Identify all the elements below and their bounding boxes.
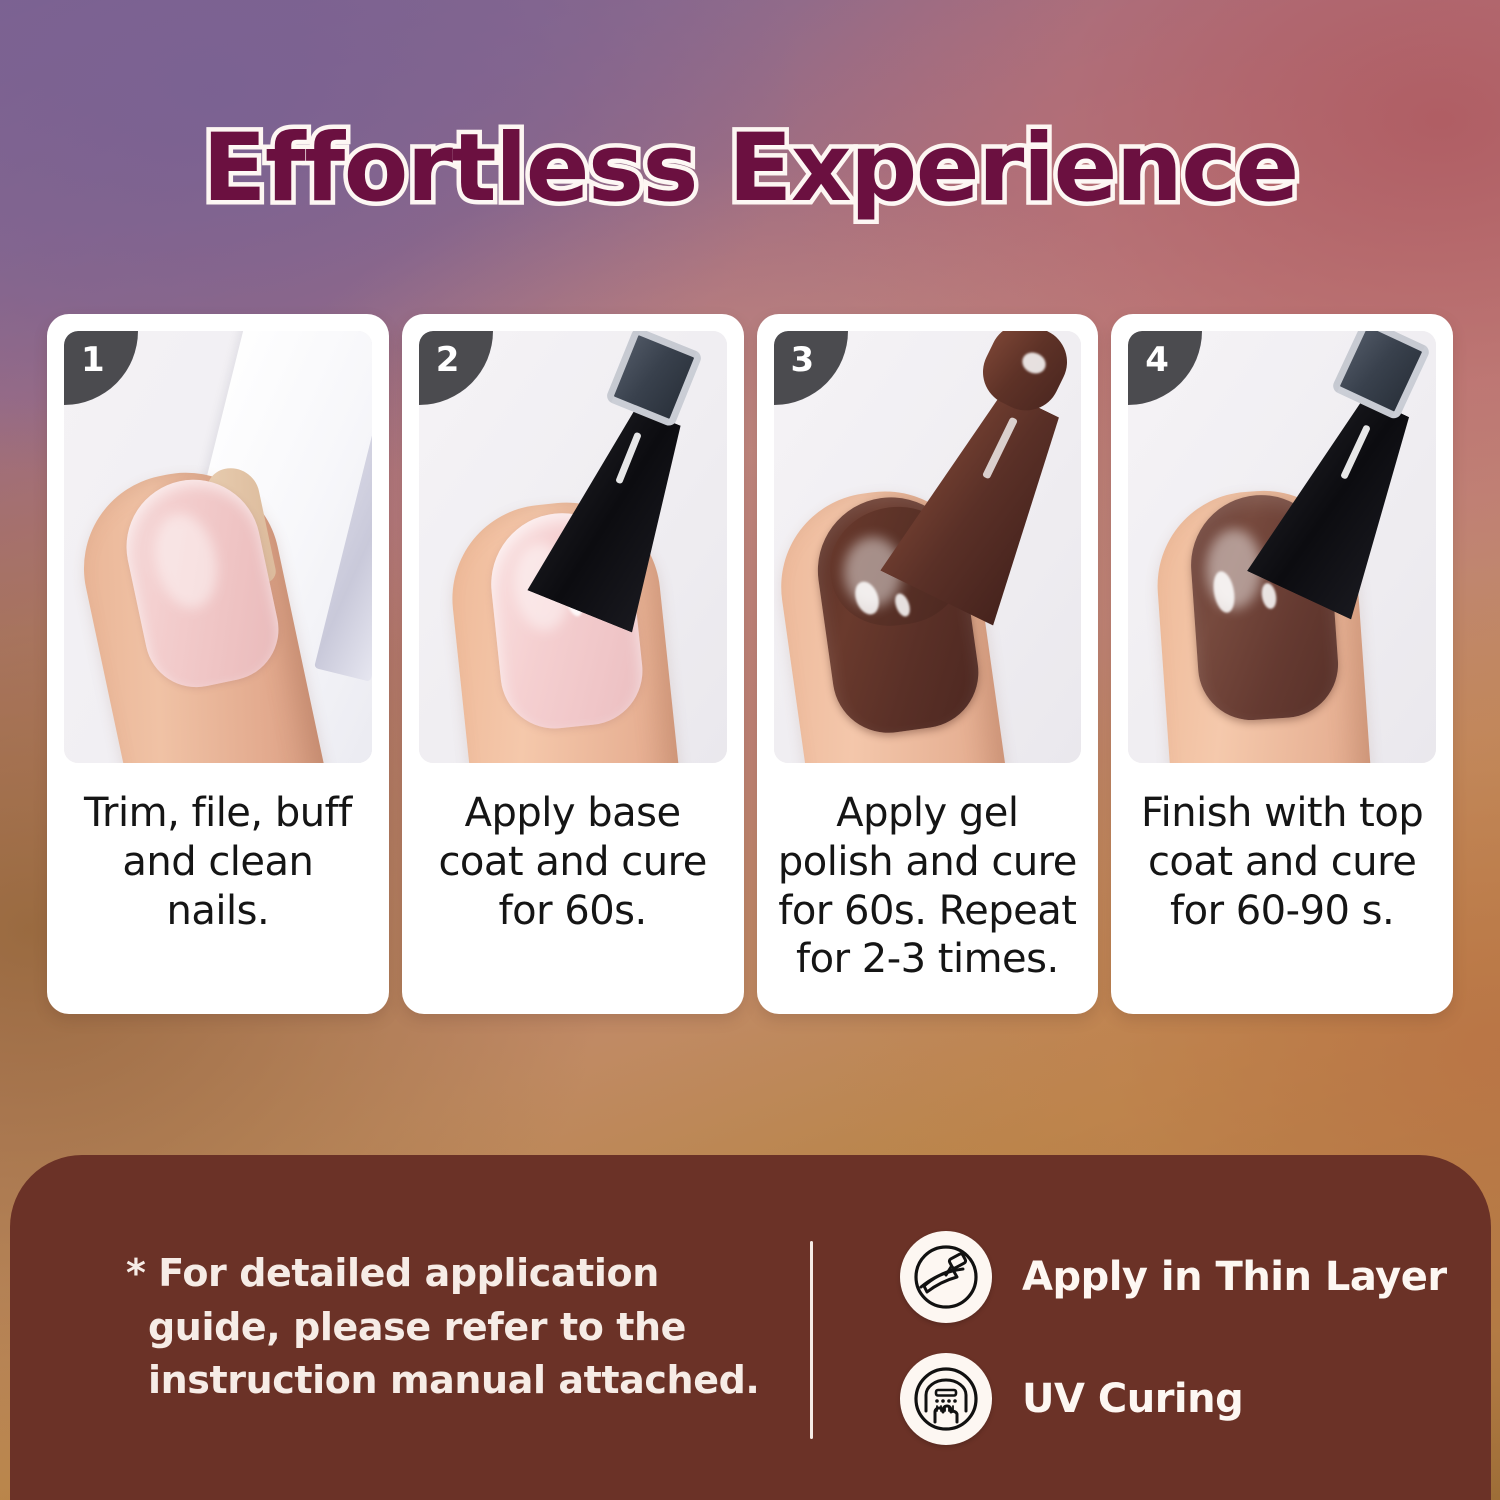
step-4-photo: 4 [1128, 331, 1436, 763]
feature-thin-layer: Apply in Thin Layer [900, 1231, 1447, 1323]
step-card-1[interactable]: 1 Trim, file, buff and clean nails. [47, 314, 389, 1014]
step-caption-1: Trim, file, buff and clean nails. [47, 763, 389, 1014]
step-caption-3: Apply gel polish and cure for 60s. Repea… [757, 763, 1099, 1014]
instruction-note: * For detailed application guide, please… [10, 1247, 800, 1409]
step-number-3: 3 [791, 343, 815, 377]
step-caption-4: Finish with top coat and cure for 60-90 … [1111, 763, 1453, 1014]
step-caption-2: Apply base coat and cure for 60s. [402, 763, 744, 1014]
step-number-2: 2 [436, 343, 460, 377]
step-3-photo: 3 [774, 331, 1082, 763]
feature-label-uv-curing: UV Curing [1022, 1376, 1243, 1422]
step-number-4: 4 [1145, 343, 1169, 377]
step-card-2[interactable]: 2 Apply base coat and cure for 60s. [402, 314, 744, 1014]
steps-row: 1 Trim, file, buff and clean nails. 2 [47, 314, 1453, 1014]
step-2-photo: 2 [419, 331, 727, 763]
feature-list: Apply in Thin Layer [900, 1231, 1447, 1445]
footer-banner: * For detailed application guide, please… [10, 1155, 1491, 1500]
page-title: Effortless Experience [202, 118, 1298, 220]
step-1-photo: 1 [64, 331, 372, 763]
infographic-root: Effortless Experience 1 Trim, file, buff… [0, 0, 1500, 1500]
step-number-1: 1 [81, 343, 105, 377]
step-card-3[interactable]: 3 Apply gel polish and cure for 60s. Rep… [757, 314, 1099, 1014]
banner-divider [810, 1241, 813, 1439]
thin-layer-brush-icon [900, 1231, 992, 1323]
uv-lamp-icon [900, 1353, 992, 1445]
feature-uv-curing: UV Curing [900, 1353, 1447, 1445]
feature-label-thin-layer: Apply in Thin Layer [1022, 1254, 1447, 1300]
page-title-wrap: Effortless Experience [0, 118, 1500, 220]
step-card-4[interactable]: 4 Finish with top coat and cure for 60-9… [1111, 314, 1453, 1014]
